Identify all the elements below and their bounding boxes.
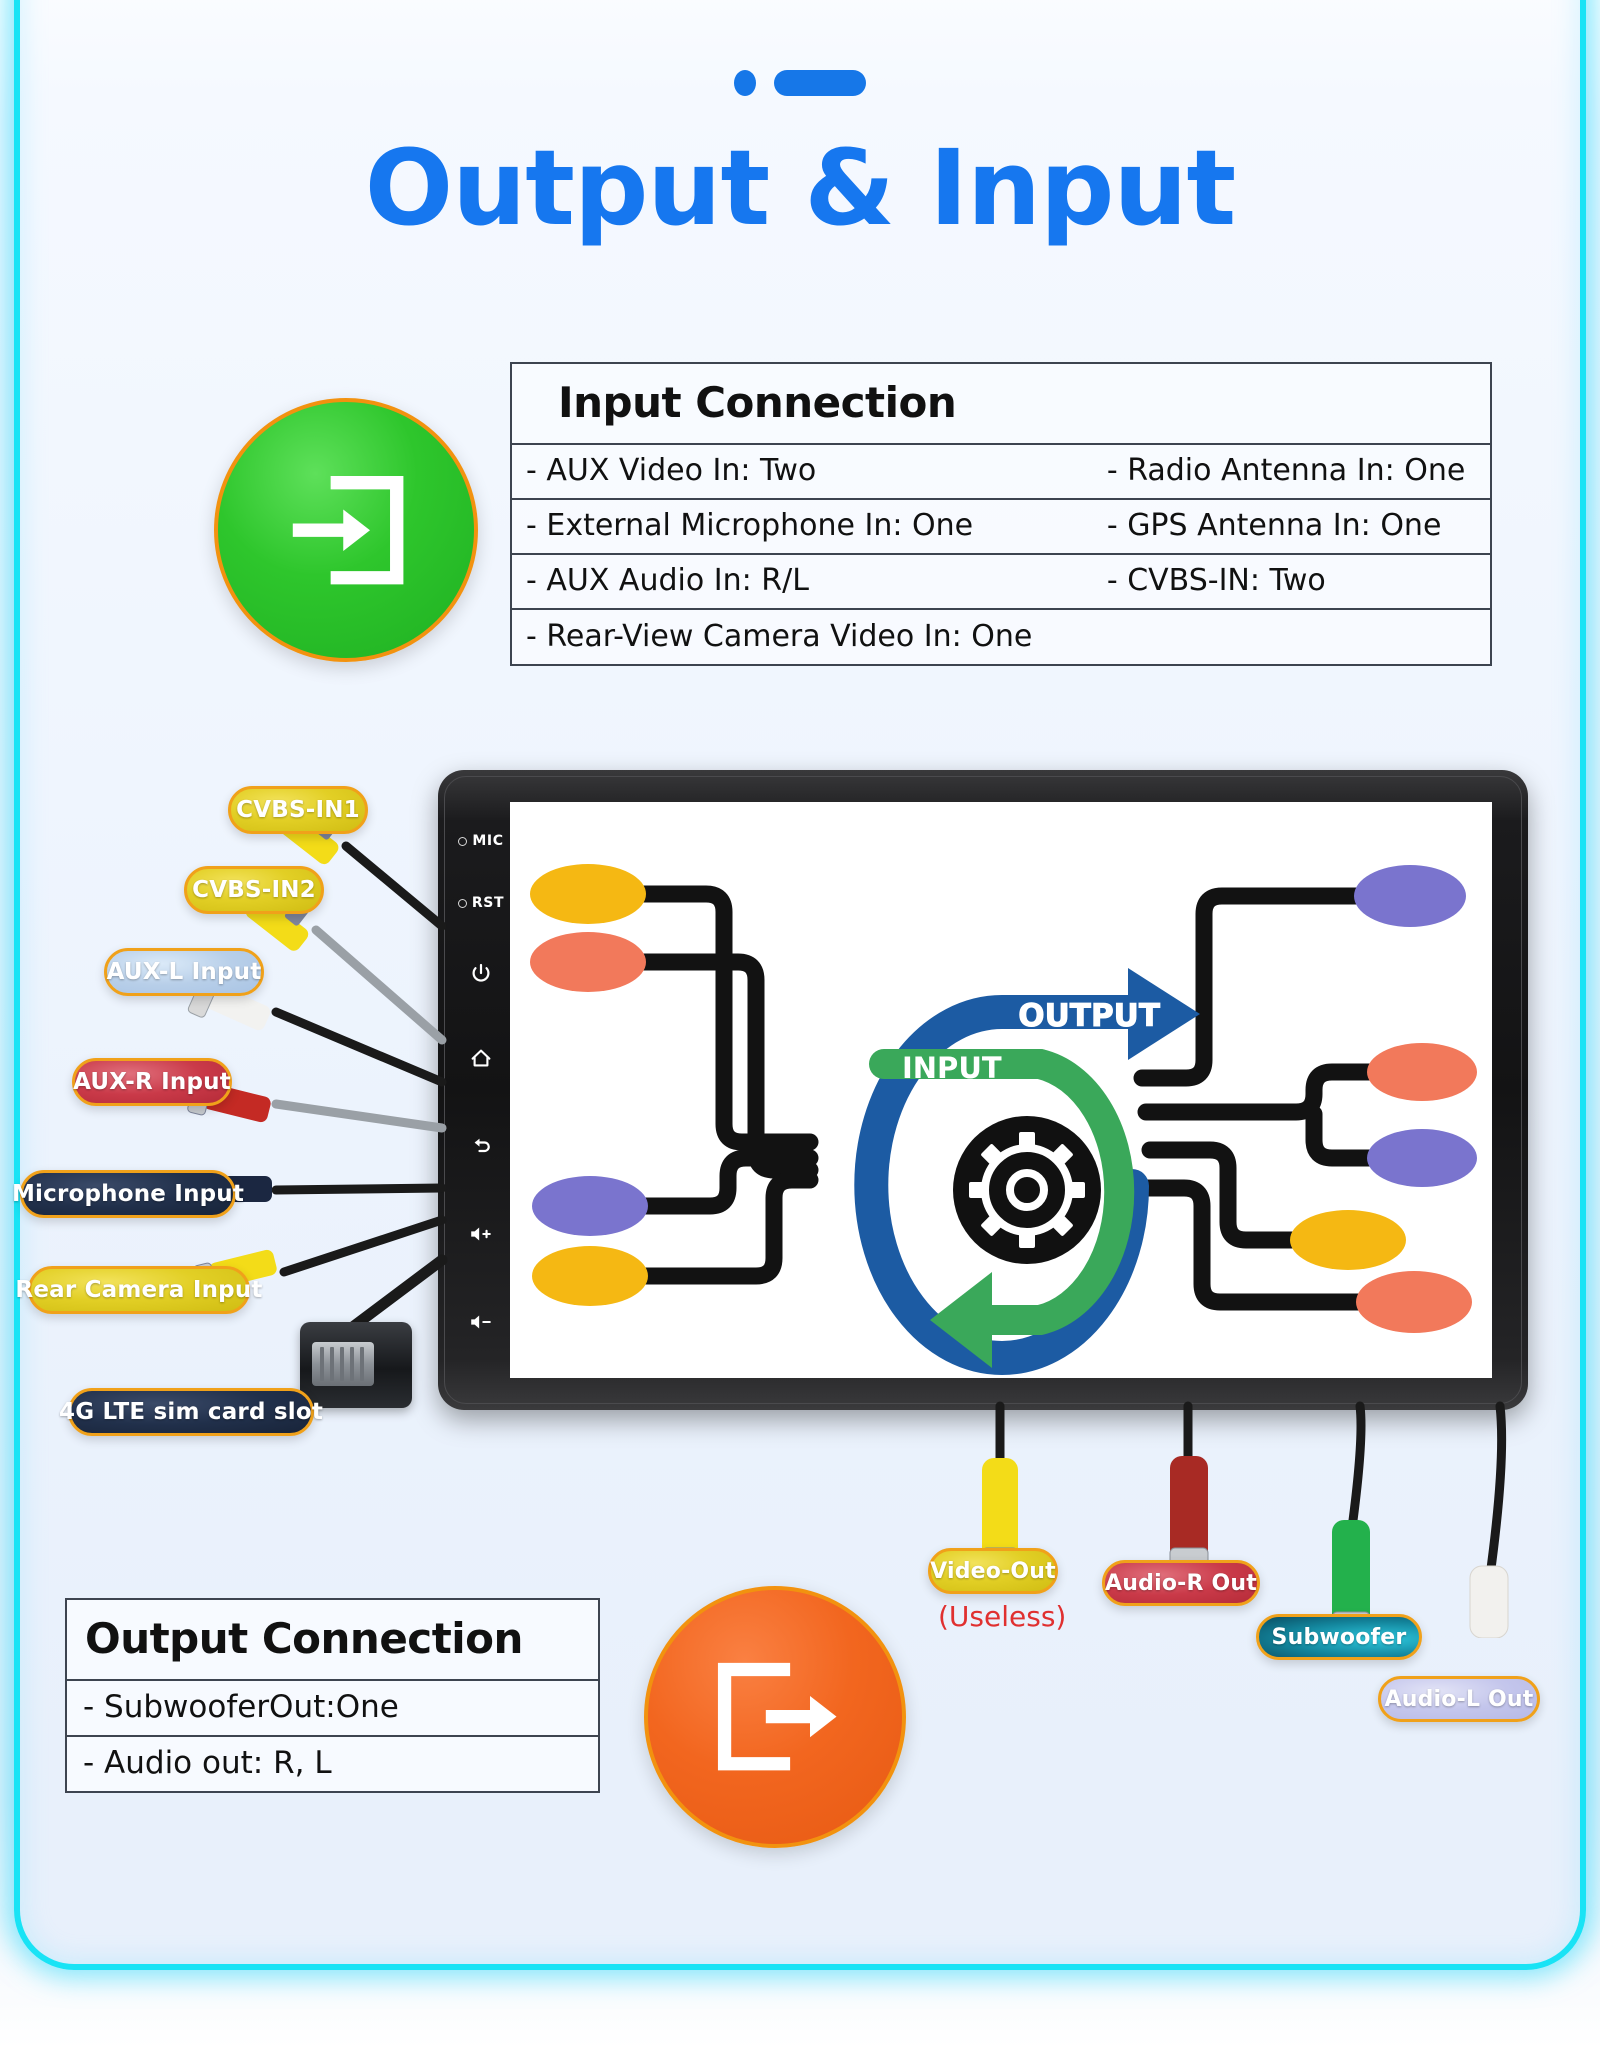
gear-icon — [953, 1116, 1101, 1264]
cable-mic — [276, 1188, 442, 1190]
table-cell: - AUX Audio In: R/L — [512, 555, 1071, 608]
label-rear-camera-input: Rear Camera Input — [28, 1266, 250, 1314]
table-row: - SubwooferOut:One — [67, 1681, 598, 1737]
input-table-title: Input Connection — [512, 364, 1490, 445]
plug-audio-l-out — [1470, 1566, 1508, 1638]
cable-audio-l — [1490, 1406, 1502, 1576]
table-row: - AUX Video In: Two - Radio Antenna In: … — [512, 445, 1490, 500]
plug-audio-r-out — [1170, 1456, 1208, 1574]
page-root: Output & Input Input Connection - AUX Vi… — [0, 0, 1600, 2048]
flow-node-right-4 — [1290, 1210, 1406, 1270]
label-cvbs-in-1: CVBS-IN1 — [228, 786, 368, 834]
output-table-title: Output Connection — [67, 1600, 598, 1681]
cable-cvbs1 — [346, 846, 442, 926]
label-cvbs-in-2: CVBS-IN2 — [184, 866, 324, 914]
label-microphone-input: Microphone Input — [20, 1170, 236, 1218]
table-row: - AUX Audio In: R/L - CVBS-IN: Two — [512, 555, 1490, 610]
video-out-useless-note: (Useless) — [938, 1600, 1066, 1633]
trace-right-3 — [1314, 1114, 1376, 1158]
flow-node-left-1 — [530, 864, 646, 924]
flow-node-left-4 — [532, 1246, 648, 1306]
sim-card-slot — [312, 1342, 374, 1386]
decoration-bar — [774, 70, 866, 96]
table-row: - External Microphone In: One - GPS Ante… — [512, 500, 1490, 555]
table-cell: - AUX Video In: Two — [512, 445, 1071, 498]
flow-output-label: OUTPUT — [1018, 998, 1160, 1034]
label-sim-card-slot: 4G LTE sim card slot — [68, 1388, 314, 1436]
cable-subwoofer — [1352, 1406, 1361, 1528]
page-header: Output & Input — [0, 0, 1600, 243]
cable-cvbs2 — [316, 930, 442, 1040]
output-connection-table: Output Connection - SubwooferOut:One - A… — [65, 1598, 600, 1793]
flow-node-left-3 — [532, 1176, 648, 1236]
flow-input-label: INPUT — [902, 1051, 1002, 1085]
trace-right-1 — [1142, 896, 1362, 1078]
flow-node-right-1 — [1354, 865, 1466, 927]
decoration-dot — [734, 70, 756, 96]
label-audio-l-out: Audio-L Out — [1378, 1676, 1540, 1722]
table-cell — [1071, 628, 1490, 646]
table-cell: - Radio Antenna In: One — [1071, 445, 1490, 498]
trace-left-1 — [640, 894, 810, 1142]
label-video-out: Video-Out — [928, 1548, 1058, 1594]
table-cell: - Audio out: R, L — [67, 1737, 598, 1791]
cable-auxr — [276, 1104, 442, 1128]
flow-node-right-3 — [1367, 1129, 1477, 1187]
device-screen: OUTPUT INPUT — [510, 802, 1492, 1378]
title-decoration — [0, 70, 1600, 96]
table-cell: - CVBS-IN: Two — [1071, 555, 1490, 608]
flow-node-right-2 — [1367, 1043, 1477, 1101]
input-badge — [214, 398, 478, 662]
label-aux-r-input: AUX-R Input — [72, 1058, 232, 1106]
flow-node-left-2 — [530, 932, 646, 992]
cable-rearcam — [284, 1220, 442, 1272]
table-cell: - SubwooferOut:One — [67, 1681, 598, 1735]
head-unit-device: MIC RST — [438, 770, 1528, 1410]
label-subwoofer-out: Subwoofer — [1256, 1614, 1422, 1660]
label-audio-r-out: Audio-R Out — [1102, 1560, 1260, 1606]
io-flow-diagram: OUTPUT INPUT — [510, 802, 1492, 1378]
input-connection-table: Input Connection - AUX Video In: Two - R… — [510, 362, 1492, 666]
table-cell: - Rear-View Camera Video In: One — [512, 611, 1071, 664]
table-cell: - GPS Antenna In: One — [1071, 500, 1490, 553]
sim-card-module — [300, 1322, 412, 1408]
login-arrow-icon — [272, 456, 420, 604]
table-row: - Audio out: R, L — [67, 1737, 598, 1791]
page-title: Output & Input — [0, 134, 1600, 243]
label-aux-l-input: AUX-L Input — [104, 948, 264, 996]
output-badge — [644, 1586, 906, 1848]
table-row: - Rear-View Camera Video In: One — [512, 610, 1490, 664]
flow-node-right-5 — [1356, 1271, 1472, 1333]
table-cell: - External Microphone In: One — [512, 500, 1071, 553]
logout-arrow-icon — [701, 1643, 848, 1790]
